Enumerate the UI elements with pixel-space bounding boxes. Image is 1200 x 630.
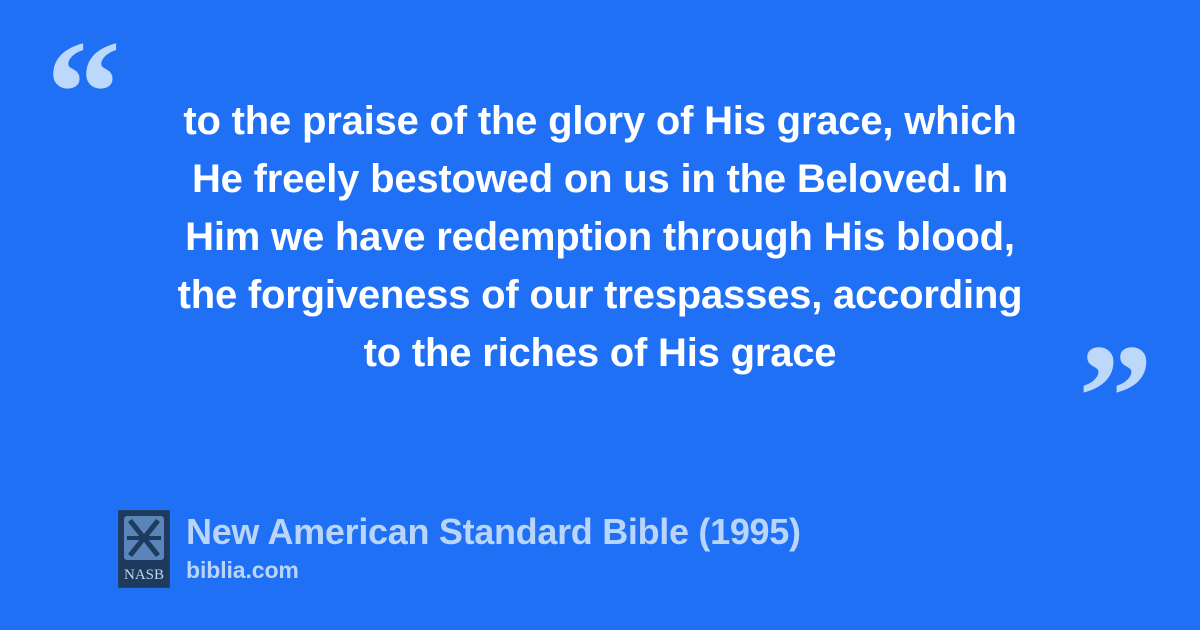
nasb-logo-icon: NASB xyxy=(118,510,170,588)
svg-text:NASB: NASB xyxy=(124,567,164,583)
quote-text: to the praise of the glory of His grace,… xyxy=(100,92,1100,382)
close-quote-icon: ” xyxy=(1078,322,1151,472)
quote-body: to the praise of the glory of His grace,… xyxy=(100,92,1100,382)
bible-version-title: New American Standard Bible (1995) xyxy=(186,510,801,554)
scripture-quote-card: “ to the praise of the glory of His grac… xyxy=(0,0,1200,630)
attribution-text: New American Standard Bible (1995) bibli… xyxy=(186,510,801,584)
attribution: NASB New American Standard Bible (1995) … xyxy=(118,510,801,588)
site-url: biblia.com xyxy=(186,556,801,584)
